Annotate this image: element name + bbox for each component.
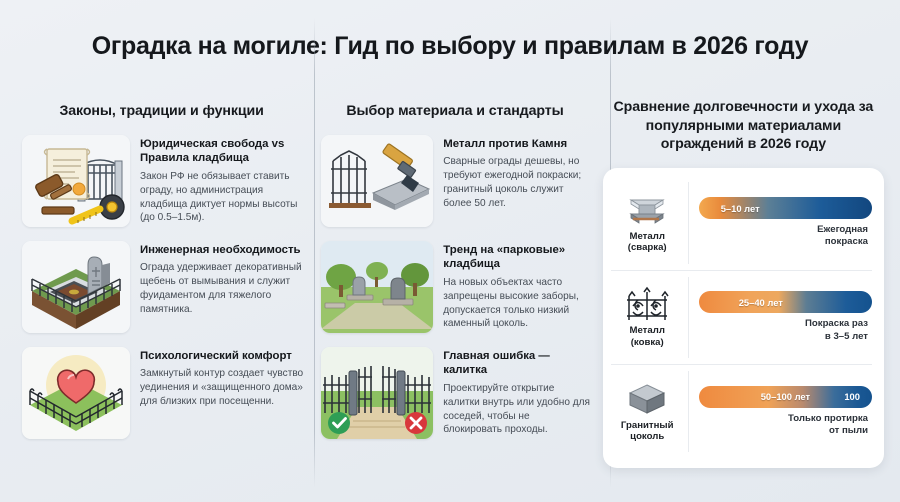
info-item-title: Металл против Камня	[443, 137, 590, 151]
maintenance-note: Ежегодная покраска	[699, 224, 872, 249]
maintenance-note: Покраска раз в 3–5 лет	[699, 318, 872, 343]
material-name: Металл (ковка)	[629, 325, 664, 348]
column-comparison: Сравнение долговечности и ухода за попул…	[601, 92, 886, 492]
gate-swing-check-cross-icon	[321, 347, 433, 439]
chart-row-metal-forged: Металл (ковка) 25–40 лет Покраска раз в …	[611, 271, 872, 365]
info-item-body: Проектируйте открытие калитки внутрь или…	[443, 382, 590, 438]
wrought-iron-fence-icon	[625, 286, 669, 322]
info-item-legal-freedom: Юридическая свобода vs Правила кладбища …	[20, 135, 303, 227]
durability-bar: 25–40 лет	[699, 291, 872, 313]
info-item-title: Тренд на «парковые» кладбища	[443, 243, 590, 272]
info-item-body: Сварные ограды дешевы, но требуют ежегод…	[443, 155, 590, 211]
park-cemetery-lawn-icon	[321, 241, 433, 333]
info-item-park-cemetery: Тренд на «парковые» кладбища На новых об…	[319, 241, 590, 333]
page-title: Оградка на могиле: Гид по выбору и прави…	[92, 32, 808, 61]
steel-i-beam-icon	[625, 192, 669, 228]
info-item-body: Ограда удерживает декоративный щебень от…	[140, 261, 303, 317]
column-materials: Выбор материала и стандарты	[309, 92, 600, 492]
column-laws: Законы, традиции и функции	[14, 92, 309, 492]
material-name: Металл (сварка)	[628, 231, 667, 254]
bar-range-label: 50–100 лет	[761, 391, 810, 402]
info-item-body: Замкнутый контур создает чувство уединен…	[140, 367, 303, 409]
chart-row-label: Гранитный цоколь	[611, 371, 689, 452]
chart-row-granite-plinth: Гранитный цоколь 50–100 лет 100 Только п…	[611, 365, 872, 458]
info-item-comfort: Психологический комфорт Замкнутый контур…	[20, 347, 303, 439]
metal-fence-vs-granite-brush-icon	[321, 135, 433, 227]
material-name: Гранитный цоколь	[621, 420, 674, 443]
column-materials-heading: Выбор материала и стандарты	[319, 92, 590, 135]
law-scroll-gavel-gate-tape-icon	[22, 135, 130, 227]
bar-value-label: 100	[844, 391, 860, 402]
granite-block-icon	[625, 381, 669, 417]
column-laws-heading: Законы, традиции и функции	[20, 92, 303, 135]
durability-comparison-chart: Металл (сварка) 5–10 лет Ежегодная покра…	[603, 168, 884, 468]
bar-range-label: 25–40 лет	[739, 297, 783, 308]
info-item-body: Закон РФ не обязывает ставить ограду, но…	[140, 170, 303, 226]
info-item-title: Психологический комфорт	[140, 349, 303, 363]
column-comparison-heading: Сравнение долговечности и ухода за попул…	[603, 92, 884, 168]
maintenance-note: Только протирка от пыли	[699, 413, 872, 438]
durability-bar: 5–10 лет	[699, 197, 872, 219]
info-item-title: Главная ошибка — калитка	[443, 349, 590, 378]
grave-plot-fence-gravel-icon	[22, 241, 130, 333]
info-item-gate-mistake: Главная ошибка — калитка Проектируйте от…	[319, 347, 590, 439]
header: Оградка на могиле: Гид по выбору и прави…	[0, 0, 900, 92]
chart-row-metal-welded: Металл (сварка) 5–10 лет Ежегодная покра…	[611, 176, 872, 270]
info-item-metal-vs-stone: Металл против Камня Сварные ограды дешев…	[319, 135, 590, 227]
heart-inside-fence-icon	[22, 347, 130, 439]
info-item-body: На новых объектах часто запрещены высоки…	[443, 276, 590, 332]
info-item-engineering: Инженерная необходимость Ограда удержива…	[20, 241, 303, 333]
content-columns: Законы, традиции и функции	[0, 92, 900, 492]
info-item-title: Юридическая свобода vs Правила кладбища	[140, 137, 303, 166]
chart-row-label: Металл (сварка)	[611, 182, 689, 263]
bar-range-label: 5–10 лет	[721, 203, 760, 214]
chart-row-label: Металл (ковка)	[611, 277, 689, 358]
info-item-title: Инженерная необходимость	[140, 243, 303, 257]
durability-bar: 50–100 лет 100	[699, 386, 872, 408]
